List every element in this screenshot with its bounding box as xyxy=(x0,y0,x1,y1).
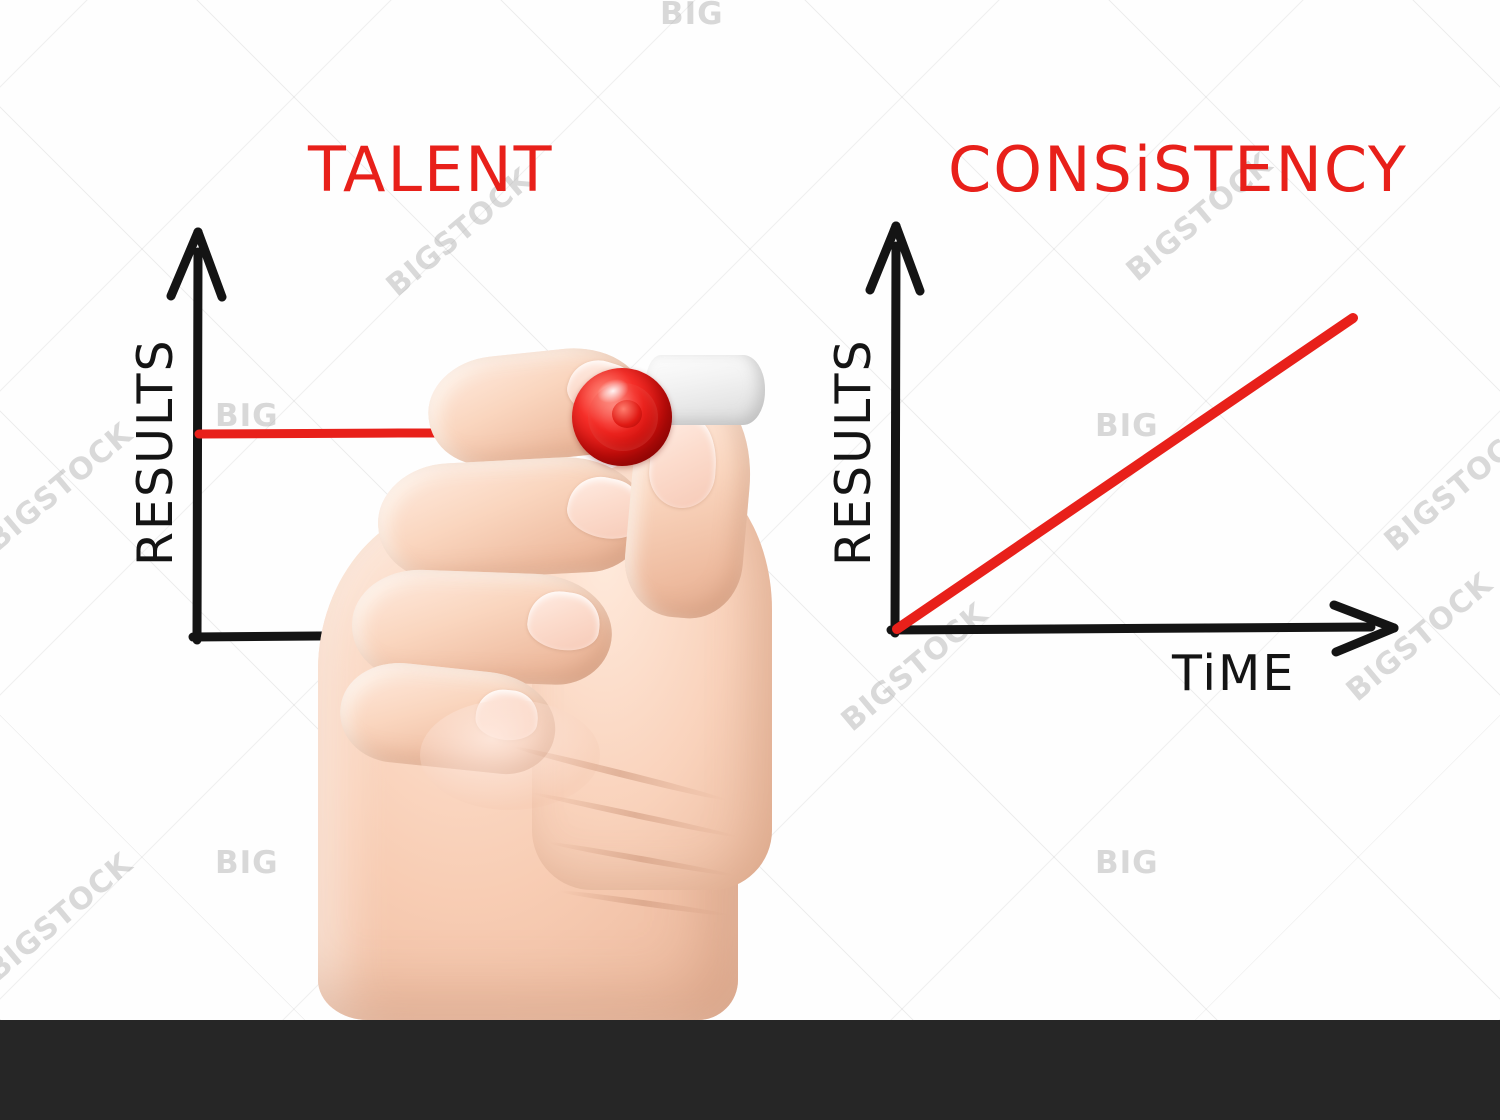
x-axis-label-consistency: TiME xyxy=(1172,645,1295,702)
watermark-bigstock: BIGSTOCK xyxy=(0,416,140,558)
chart-consistency-axes xyxy=(870,226,1394,652)
hand-knuckle-shade xyxy=(420,700,600,810)
watermark-bigstock: BIGSTOCK xyxy=(1378,416,1500,558)
bigstock-footer-bar: BIGSTOCK Image ID: 267298030 bigstock.co… xyxy=(0,1020,1500,1120)
hand-holding-marker xyxy=(300,300,800,1020)
watermark-big: BIG xyxy=(660,0,724,32)
chart-title-talent: TALENT xyxy=(308,133,553,206)
watermark-bigstock: BIGSTOCK xyxy=(1340,566,1500,708)
watermark-bigstock: BIGSTOCK xyxy=(835,596,995,738)
chart-consistency-data-line xyxy=(897,318,1353,629)
chart-title-consistency: CONSiSTENCY xyxy=(948,133,1408,206)
screenshot-root: BIGSTOCK BIGSTOCK BIGSTOCK BIGSTOCK BIGS… xyxy=(0,0,1500,1120)
watermark-big: BIG xyxy=(1095,845,1159,881)
y-axis-label-talent: RESULTS xyxy=(127,338,184,566)
watermark-bigstock: BIGSTOCK xyxy=(0,846,140,988)
whiteboard-canvas: BIGSTOCK BIGSTOCK BIGSTOCK BIGSTOCK BIGS… xyxy=(0,0,1500,1020)
watermark-big: BIG xyxy=(1095,408,1159,444)
watermark-big: BIG xyxy=(215,845,279,881)
marker-cap-center xyxy=(612,400,642,428)
watermark-big: BIG xyxy=(215,398,279,434)
y-axis-label-consistency: RESULTS xyxy=(825,338,882,566)
